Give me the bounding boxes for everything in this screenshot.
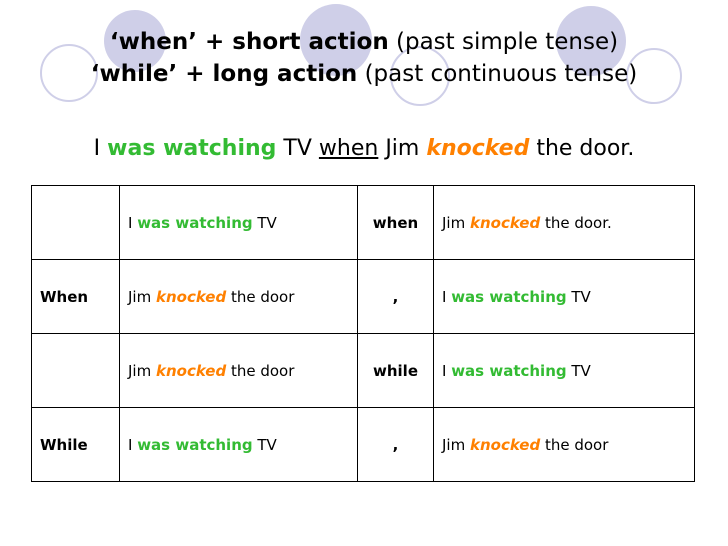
row-connector: while <box>358 334 434 408</box>
lead-subject-2: Jim <box>378 136 426 161</box>
clause-pre: I <box>128 436 137 454</box>
clause-verb-continuous: was watching <box>451 288 566 306</box>
clause-post: the door. <box>540 214 612 232</box>
clause-post: the door <box>226 362 294 380</box>
lead-object: TV <box>276 136 318 161</box>
table-row: While I was watching TV , Jim knocked th… <box>32 408 695 482</box>
page-title: ‘when’ + short action (past simple tense… <box>0 26 728 90</box>
table-row: When Jim knocked the door , I was watchi… <box>32 260 695 334</box>
title-when-note: (past simple tense) <box>389 29 618 55</box>
row-clause-first: Jim knocked the door <box>120 334 358 408</box>
row-clause-second: Jim knocked the door <box>434 408 695 482</box>
clause-verb-continuous: was watching <box>137 214 252 232</box>
title-while-rule: ‘while’ + long action <box>91 61 358 87</box>
clause-pre: I <box>442 362 451 380</box>
clause-verb-continuous: was watching <box>451 362 566 380</box>
clause-pre: Jim <box>128 362 156 380</box>
clause-post: TV <box>253 436 277 454</box>
row-clause-second: I was watching TV <box>434 260 695 334</box>
row-connector: , <box>358 408 434 482</box>
sentence-pattern-table: I was watching TV when Jim knocked the d… <box>31 185 695 482</box>
clause-pre: I <box>128 214 137 232</box>
lead-tail: the door. <box>529 136 634 161</box>
clause-post: TV <box>253 214 277 232</box>
row-clause-first: I was watching TV <box>120 186 358 260</box>
table-row: Jim knocked the door while I was watchin… <box>32 334 695 408</box>
row-clause-first: I was watching TV <box>120 408 358 482</box>
row-clause-first: Jim knocked the door <box>120 260 358 334</box>
row-label: While <box>32 408 120 482</box>
row-connector: , <box>358 260 434 334</box>
row-connector: when <box>358 186 434 260</box>
title-line-while: ‘while’ + long action (past continuous t… <box>0 58 728 90</box>
row-label: When <box>32 260 120 334</box>
clause-verb-continuous: was watching <box>137 436 252 454</box>
clause-pre: Jim <box>442 214 470 232</box>
clause-verb-simple: knocked <box>156 288 226 306</box>
row-label <box>32 186 120 260</box>
lead-verb-continuous: was watching <box>107 136 276 161</box>
row-clause-second: Jim knocked the door. <box>434 186 695 260</box>
row-label <box>32 334 120 408</box>
lead-verb-simple: knocked <box>426 136 529 161</box>
clause-pre: I <box>442 288 451 306</box>
clause-verb-simple: knocked <box>470 214 540 232</box>
clause-post: the door <box>540 436 608 454</box>
table-row: I was watching TV when Jim knocked the d… <box>32 186 695 260</box>
example-sentence: I was watching TV when Jim knocked the d… <box>0 136 728 161</box>
clause-verb-simple: knocked <box>156 362 226 380</box>
slide-canvas: ‘when’ + short action (past simple tense… <box>0 0 728 546</box>
clause-post: TV <box>567 288 591 306</box>
title-when-rule: ‘when’ + short action <box>110 29 389 55</box>
lead-connector: when <box>319 136 378 161</box>
clause-pre: Jim <box>442 436 470 454</box>
clause-post: the door <box>226 288 294 306</box>
clause-verb-simple: knocked <box>470 436 540 454</box>
lead-subject: I <box>94 136 107 161</box>
row-clause-second: I was watching TV <box>434 334 695 408</box>
clause-post: TV <box>567 362 591 380</box>
title-line-when: ‘when’ + short action (past simple tense… <box>0 26 728 58</box>
clause-pre: Jim <box>128 288 156 306</box>
title-while-note: (past continuous tense) <box>357 61 637 87</box>
